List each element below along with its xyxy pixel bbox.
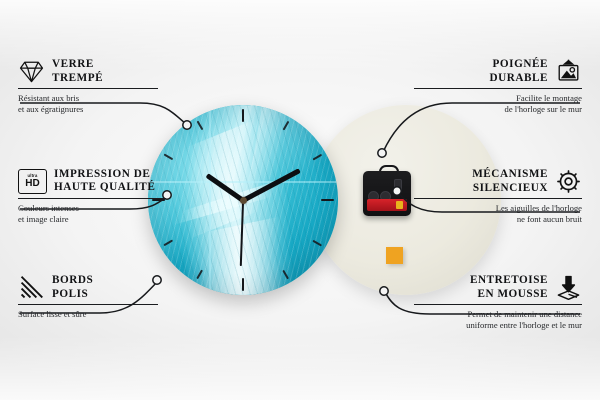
foam-spacer-arrow-icon bbox=[555, 274, 582, 301]
feature-desc-line2: ne font aucun bruit bbox=[414, 214, 582, 225]
feature-divider bbox=[18, 198, 166, 199]
connector-dot-verre-trempe bbox=[183, 121, 191, 129]
feature-desc-line1: Surface lisse et sûre bbox=[18, 309, 186, 320]
feature-desc-line1: Les aiguilles de l'horloge bbox=[414, 203, 582, 214]
connector-dot-entretoise bbox=[380, 287, 388, 295]
feature-title: IMPRESSION DE HAUTE QUALITÉ bbox=[54, 168, 155, 195]
feature-desc-line1: Couleurs intenses bbox=[18, 203, 186, 214]
feature-divider bbox=[18, 88, 158, 89]
feature-desc-line2: et aux égratignures bbox=[18, 104, 186, 115]
feature-divider bbox=[414, 88, 582, 89]
feature-impression-haute-qualite: ultra HD IMPRESSION DE HAUTE QUALITÉ Cou… bbox=[18, 168, 186, 224]
feature-title: MÉCANISME SILENCIEUX bbox=[472, 168, 548, 195]
connector-dot-mecanisme bbox=[393, 187, 401, 195]
feature-desc-line1: Permet de maintenir une distance bbox=[414, 309, 582, 320]
feature-header: ENTRETOISE EN MOUSSE bbox=[414, 274, 582, 301]
feature-title: VERRE TREMPÉ bbox=[52, 58, 103, 85]
gear-icon bbox=[555, 168, 582, 195]
feature-header: BORDS POLIS bbox=[18, 274, 186, 301]
connector-dot-poignee bbox=[378, 149, 386, 157]
feature-desc-line1: Facilite le montage bbox=[414, 93, 582, 104]
feature-header: POIGNÉE DURABLE bbox=[414, 58, 582, 85]
feature-desc-line2: uniforme entre l'horloge et le mur bbox=[414, 320, 582, 331]
feature-divider bbox=[414, 198, 582, 199]
feature-verre-trempe: VERRE TREMPÉ Résistant aux bris et aux é… bbox=[18, 58, 186, 114]
feature-desc-line2: et image claire bbox=[18, 214, 186, 225]
feature-title: ENTRETOISE EN MOUSSE bbox=[470, 274, 548, 301]
product-infographic: VERRE TREMPÉ Résistant aux bris et aux é… bbox=[0, 0, 600, 400]
feature-divider bbox=[18, 304, 158, 305]
diamond-icon bbox=[18, 58, 45, 85]
ultra-hd-icon-large-text: HD bbox=[25, 179, 39, 189]
ultra-hd-icon: ultra HD bbox=[18, 169, 47, 194]
feature-desc-line2: de l'horloge sur le mur bbox=[414, 104, 582, 115]
polished-edges-icon bbox=[18, 274, 45, 301]
feature-title: BORDS POLIS bbox=[52, 274, 93, 301]
feature-header: MÉCANISME SILENCIEUX bbox=[414, 168, 582, 195]
feature-header: VERRE TREMPÉ bbox=[18, 58, 186, 85]
hanging-picture-icon bbox=[555, 58, 582, 85]
feature-divider bbox=[414, 304, 582, 305]
feature-title: POIGNÉE DURABLE bbox=[489, 58, 548, 85]
feature-header: ultra HD IMPRESSION DE HAUTE QUALITÉ bbox=[18, 168, 186, 195]
feature-poignee-durable: POIGNÉE DURABLE Facilite le montage de l… bbox=[414, 58, 582, 114]
feature-desc-line1: Résistant aux bris bbox=[18, 93, 186, 104]
feature-bords-polis: BORDS POLIS Surface lisse et sûre bbox=[18, 274, 186, 320]
feature-entretoise-en-mousse: ENTRETOISE EN MOUSSE Permet de maintenir… bbox=[414, 274, 582, 330]
feature-mecanisme-silencieux: MÉCANISME SILENCIEUX Les aiguilles de l'… bbox=[414, 168, 582, 224]
